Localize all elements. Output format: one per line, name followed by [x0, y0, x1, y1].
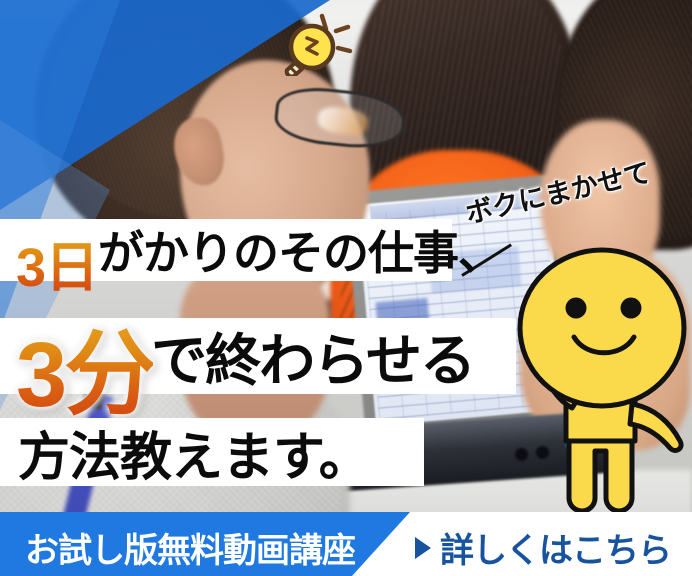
cta-bar: お試し版無料動画講座 詳しくはこちら: [0, 512, 692, 576]
cta-details-link[interactable]: 詳しくはこちら: [415, 523, 671, 572]
cta-details-label: 詳しくはこちら: [440, 523, 671, 572]
headline-2-text: で終わらせる: [151, 316, 474, 397]
headline-2-accent: 3分: [16, 300, 153, 433]
lightbulb-icon: [262, 6, 354, 76]
play-triangle-icon: [415, 537, 431, 559]
mascot-character: [494, 236, 692, 521]
promo-banner: ボクにまかせて 3日 が: [0, 0, 692, 576]
headline-1-text: がかりのその仕事、: [98, 217, 503, 283]
headline-band-3: 方法教えます。: [0, 418, 424, 486]
headline-3-text: 方法教えます。: [18, 415, 370, 490]
cta-blue-label[interactable]: お試し版無料動画講座: [25, 523, 355, 572]
headline-1-accent: 3日: [16, 223, 98, 302]
